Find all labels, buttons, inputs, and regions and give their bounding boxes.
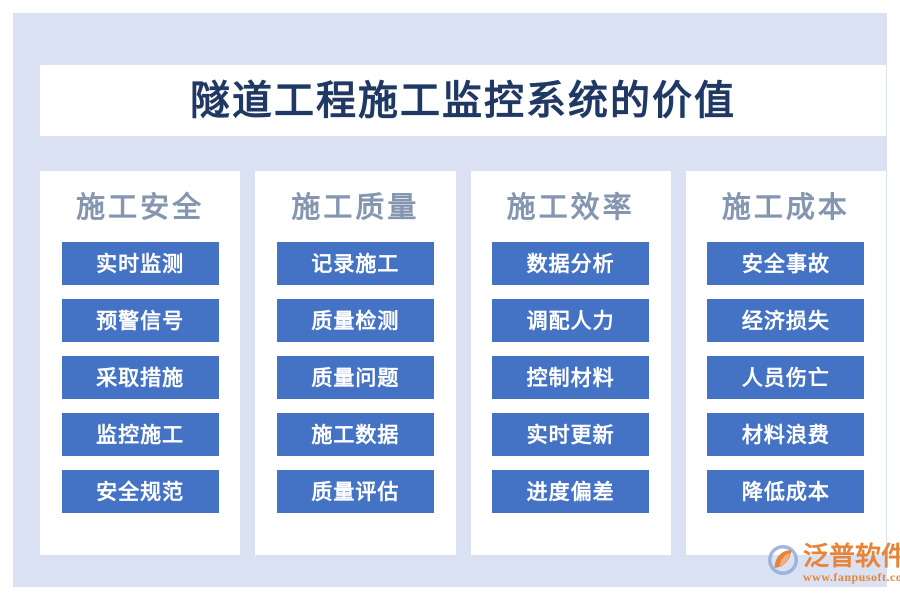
column-header: 施工成本 xyxy=(722,193,850,225)
column-item-list: 数据分析 调配人力 控制材料 实时更新 进度偏差 xyxy=(471,242,671,513)
list-item[interactable]: 质量问题 xyxy=(277,356,434,399)
list-item[interactable]: 降低成本 xyxy=(707,470,864,513)
list-item[interactable]: 安全规范 xyxy=(62,470,219,513)
title-card: 隧道工程施工监控系统的价值 xyxy=(40,65,886,136)
fanpu-swirl-logo-icon xyxy=(766,543,800,577)
column-header: 施工质量 xyxy=(291,193,419,225)
list-item[interactable]: 数据分析 xyxy=(492,242,649,285)
column-header: 施工效率 xyxy=(507,193,635,225)
list-item[interactable]: 采取措施 xyxy=(62,356,219,399)
brand-name: 泛普软件 xyxy=(803,543,900,570)
list-item[interactable]: 实时更新 xyxy=(492,413,649,456)
list-item[interactable]: 监控施工 xyxy=(62,413,219,456)
page-title: 隧道工程施工监控系统的价值 xyxy=(190,81,736,121)
list-item[interactable]: 记录施工 xyxy=(277,242,434,285)
list-item[interactable]: 质量评估 xyxy=(277,470,434,513)
list-item[interactable]: 预警信号 xyxy=(62,299,219,342)
list-item[interactable]: 安全事故 xyxy=(707,242,864,285)
list-item[interactable]: 实时监测 xyxy=(62,242,219,285)
columns-container: 施工安全 实时监测 预警信号 采取措施 监控施工 安全规范 施工质量 记录施工 … xyxy=(40,171,886,555)
column-construction-safety[interactable]: 施工安全 实时监测 预警信号 采取措施 监控施工 安全规范 xyxy=(40,171,240,555)
column-item-list: 记录施工 质量检测 质量问题 施工数据 质量评估 xyxy=(255,242,455,513)
column-item-list: 安全事故 经济损失 人员伤亡 材料浪费 降低成本 xyxy=(686,242,886,513)
list-item[interactable]: 控制材料 xyxy=(492,356,649,399)
column-header: 施工安全 xyxy=(76,193,204,225)
list-item[interactable]: 材料浪费 xyxy=(707,413,864,456)
list-item[interactable]: 人员伤亡 xyxy=(707,356,864,399)
list-item[interactable]: 质量检测 xyxy=(277,299,434,342)
column-construction-quality[interactable]: 施工质量 记录施工 质量检测 质量问题 施工数据 质量评估 xyxy=(255,171,455,555)
column-construction-cost[interactable]: 施工成本 安全事故 经济损失 人员伤亡 材料浪费 降低成本 xyxy=(686,171,886,555)
brand-url: www.fanpusoft.com xyxy=(803,571,900,584)
column-construction-efficiency[interactable]: 施工效率 数据分析 调配人力 控制材料 实时更新 进度偏差 xyxy=(471,171,671,555)
poster-root: 隧道工程施工监控系统的价值 施工安全 实时监测 预警信号 采取措施 监控施工 安… xyxy=(0,0,900,600)
brand-logo: 泛普软件 www.fanpusoft.com xyxy=(766,543,900,589)
poster-panel: 隧道工程施工监控系统的价值 施工安全 实时监测 预警信号 采取措施 监控施工 安… xyxy=(13,13,887,587)
list-item[interactable]: 进度偏差 xyxy=(492,470,649,513)
list-item[interactable]: 经济损失 xyxy=(707,299,864,342)
list-item[interactable]: 调配人力 xyxy=(492,299,649,342)
brand-text-block: 泛普软件 www.fanpusoft.com xyxy=(803,543,900,584)
column-item-list: 实时监测 预警信号 采取措施 监控施工 安全规范 xyxy=(40,242,240,513)
list-item[interactable]: 施工数据 xyxy=(277,413,434,456)
